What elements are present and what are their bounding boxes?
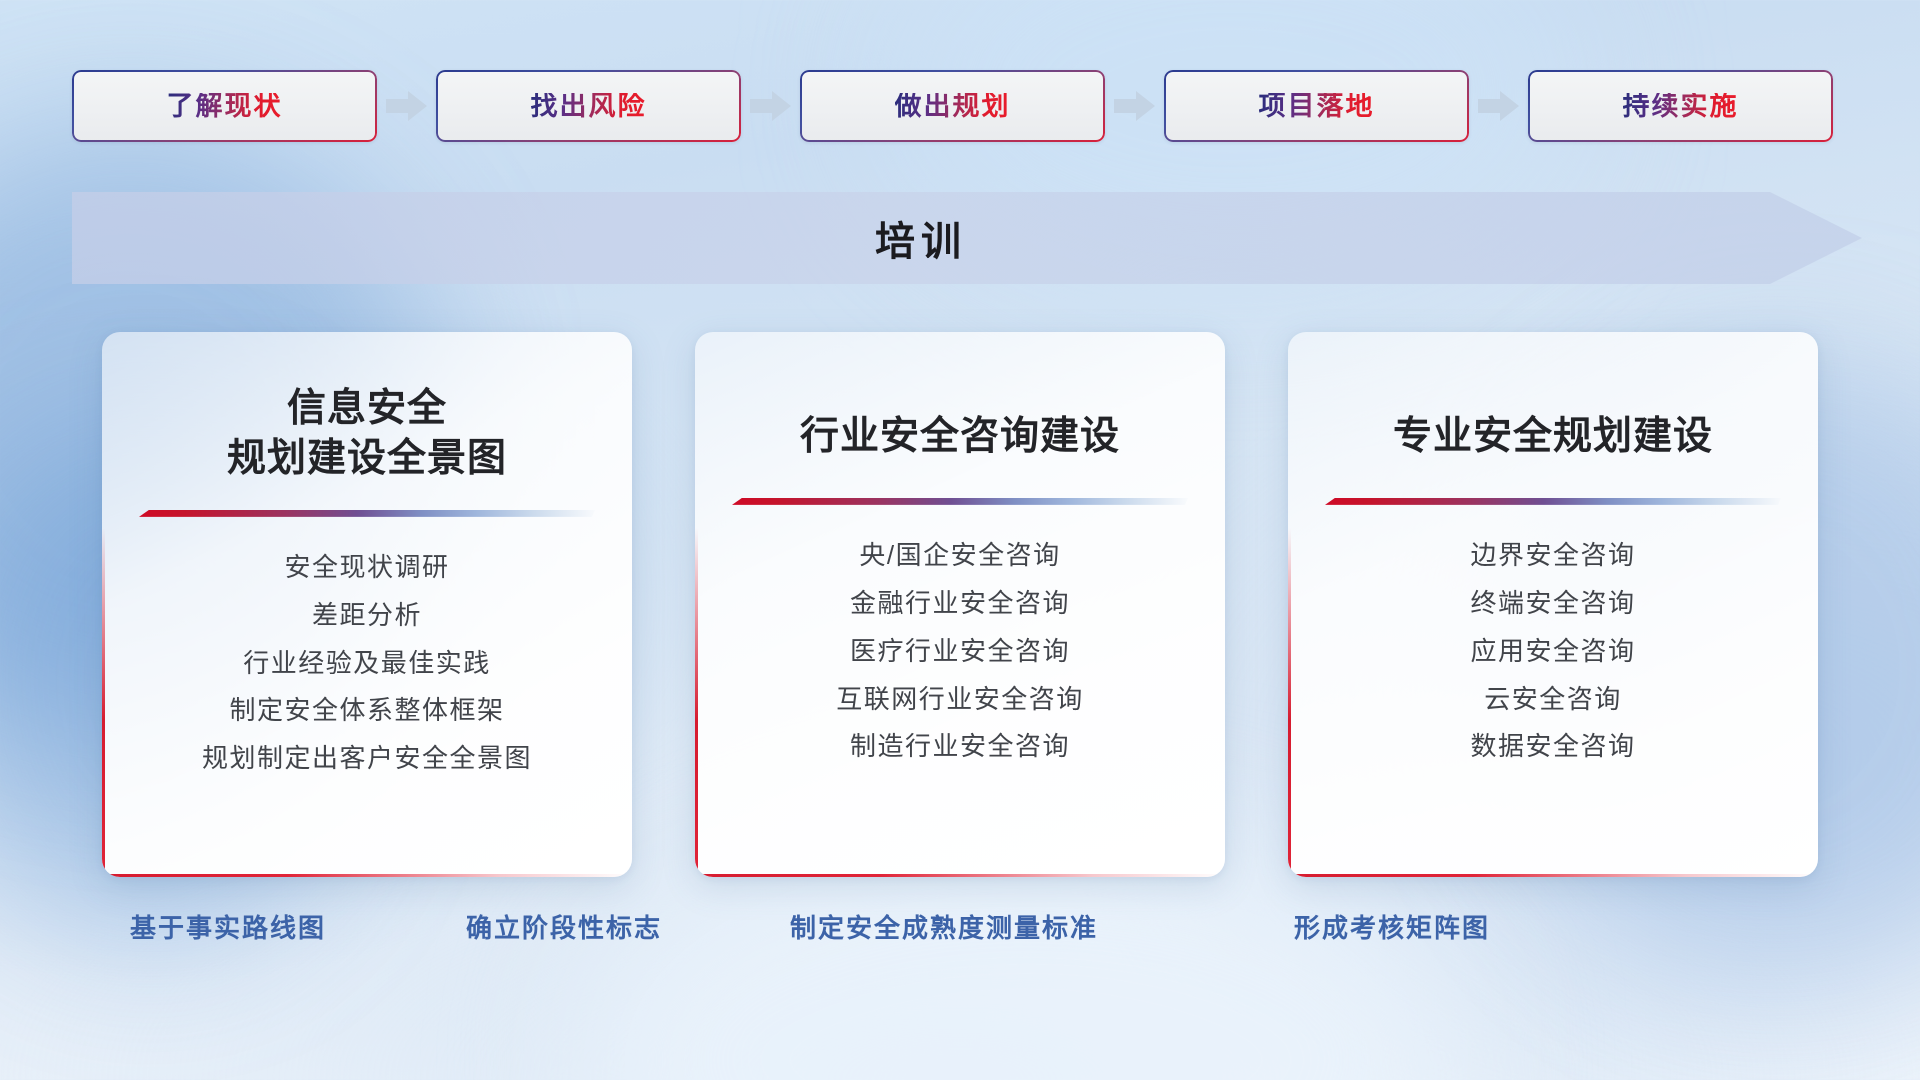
- list-item[interactable]: 央/国企安全咨询: [859, 541, 1060, 571]
- process-step-label: 了解现状: [167, 93, 283, 120]
- card-item-list: 安全现状调研 差距分析 行业经验及最佳实践 制定安全体系整体框架 规划制定出客户…: [202, 553, 532, 774]
- card-title: 专业安全规划建设: [1393, 412, 1713, 462]
- list-item[interactable]: 云安全咨询: [1484, 685, 1622, 715]
- card-0[interactable]: 信息安全 规划建设全景图 安全现状调研 差距分析 行业经验及最佳实践 制定安全体…: [102, 332, 632, 877]
- card-title-line-1: 行业安全咨询建设: [800, 412, 1120, 462]
- process-step-4[interactable]: 持续实施: [1528, 70, 1833, 142]
- process-step-2[interactable]: 做出规划: [800, 70, 1105, 142]
- card-title: 行业安全咨询建设: [800, 412, 1120, 462]
- list-item[interactable]: 边界安全咨询: [1470, 541, 1635, 571]
- list-item[interactable]: 制定安全体系整体框架: [229, 696, 504, 726]
- card-divider: [139, 510, 595, 517]
- right-arrow-icon: [386, 89, 427, 123]
- card-title: 信息安全 规划建设全景图: [227, 384, 507, 484]
- list-item[interactable]: 数据安全咨询: [1470, 732, 1635, 762]
- list-item[interactable]: 终端安全咨询: [1470, 589, 1635, 619]
- right-arrow-icon: [1114, 89, 1155, 123]
- process-step-label: 找出风险: [531, 93, 647, 120]
- card-1[interactable]: 行业安全咨询建设 央/国企安全咨询 金融行业安全咨询 医疗行业安全咨询 互联网行…: [695, 332, 1225, 877]
- process-step-3[interactable]: 项目落地: [1164, 70, 1469, 142]
- card-title-line-1: 专业安全规划建设: [1393, 412, 1713, 462]
- list-item[interactable]: 行业经验及最佳实践: [243, 649, 491, 679]
- right-arrow-icon: [1478, 89, 1519, 123]
- card-bottom-accent-bar: [102, 874, 632, 877]
- training-banner: 培训: [72, 192, 1862, 284]
- process-step-label: 做出规划: [895, 93, 1011, 120]
- list-item[interactable]: 安全现状调研: [284, 553, 449, 583]
- process-step-label: 项目落地: [1259, 93, 1375, 120]
- training-banner-label: 培训: [72, 192, 1862, 284]
- list-item[interactable]: 医疗行业安全咨询: [850, 637, 1070, 667]
- card-bottom-accent-bar: [695, 874, 1225, 877]
- process-step-1[interactable]: 找出风险: [436, 70, 741, 142]
- card-title-line-1: 信息安全: [227, 384, 507, 434]
- list-item[interactable]: 规划制定出客户安全全景图: [202, 744, 532, 774]
- card-item-list: 边界安全咨询 终端安全咨询 应用安全咨询 云安全咨询 数据安全咨询: [1470, 541, 1635, 762]
- bottom-label-2: 制定安全成熟度测量标准: [790, 908, 1098, 945]
- card-row: 信息安全 规划建设全景图 安全现状调研 差距分析 行业经验及最佳实践 制定安全体…: [0, 332, 1920, 877]
- bottom-label-3: 形成考核矩阵图: [1294, 908, 1490, 945]
- card-left-accent-bar: [102, 528, 105, 877]
- card-divider: [732, 498, 1188, 505]
- card-item-list: 央/国企安全咨询 金融行业安全咨询 医疗行业安全咨询 互联网行业安全咨询 制造行…: [836, 541, 1084, 762]
- bottom-label-0: 基于事实路线图: [130, 908, 326, 945]
- list-item[interactable]: 应用安全咨询: [1470, 637, 1635, 667]
- bottom-label-row: 基于事实路线图 确立阶段性标志 制定安全成熟度测量标准 形成考核矩阵图: [0, 908, 1920, 954]
- card-bottom-accent-bar: [1288, 874, 1818, 877]
- right-arrow-icon: [750, 89, 791, 123]
- process-flow-row: 了解现状 找出风险 做出规划 项目落地 持续实施: [0, 70, 1920, 142]
- bottom-label-1: 确立阶段性标志: [466, 908, 662, 945]
- card-2[interactable]: 专业安全规划建设 边界安全咨询 终端安全咨询 应用安全咨询 云安全咨询 数据安全…: [1288, 332, 1818, 877]
- card-left-accent-bar: [695, 528, 698, 877]
- card-title-line-2: 规划建设全景图: [227, 434, 507, 484]
- list-item[interactable]: 金融行业安全咨询: [850, 589, 1070, 619]
- list-item[interactable]: 制造行业安全咨询: [850, 732, 1070, 762]
- list-item[interactable]: 互联网行业安全咨询: [836, 685, 1084, 715]
- card-left-accent-bar: [1288, 528, 1291, 877]
- list-item[interactable]: 差距分析: [312, 601, 422, 631]
- card-divider: [1325, 498, 1781, 505]
- process-step-0[interactable]: 了解现状: [72, 70, 377, 142]
- process-step-label: 持续实施: [1623, 93, 1739, 120]
